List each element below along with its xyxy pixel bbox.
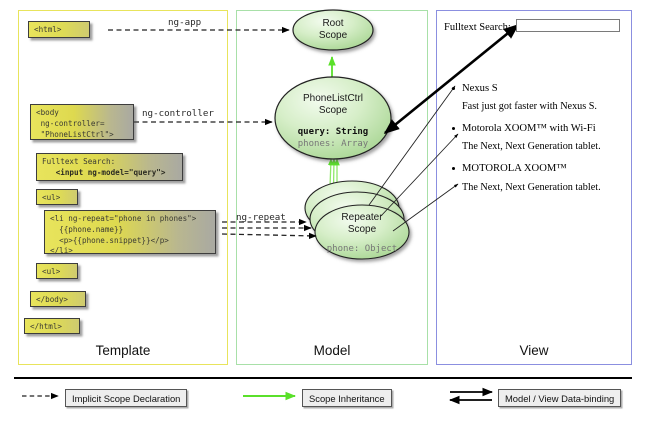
label-ng-repeat: ng-repeat [236, 212, 286, 223]
arrow-repeater-item-3 [393, 184, 458, 231]
phone-snippet: The Next, Next Generation tablet. [462, 141, 630, 152]
panel-label-template: Template [18, 343, 228, 358]
code-search-input-tag: <input ng-model="query"> [56, 168, 166, 177]
panel-label-model: Model [236, 343, 428, 358]
code-html-close[interactable]: </html> [24, 318, 80, 334]
arrow-repeater-item-2 [381, 134, 458, 216]
view-search-input[interactable] [516, 19, 620, 32]
ellipse-repeater-scope-front[interactable] [315, 205, 409, 259]
view-search-label: Fulltext Search: [444, 22, 511, 33]
bullet-icon [452, 87, 455, 90]
code-body-open[interactable]: <body ng-controller= "PhoneListCtrl"> [30, 104, 134, 140]
phone-snippet: Fast just got faster with Nexus S. [462, 101, 630, 112]
view-phone-list: Nexus S Fast just got faster with Nexus … [462, 82, 630, 200]
code-body-close[interactable]: </body> [30, 291, 86, 307]
code-search-block[interactable]: Fulltext Search: <input ng-model="query"… [36, 153, 183, 181]
ellipse-root-scope[interactable] [293, 10, 373, 50]
arrow-ng-repeat-3 [222, 234, 316, 236]
code-search-label: Fulltext Search: [42, 157, 115, 166]
label-ng-app: ng-app [168, 17, 201, 28]
ellipse-phonelistctrl-scope[interactable] [275, 77, 391, 159]
phone-name: Motorola XOOM™ with Wi-Fi [462, 122, 630, 135]
code-ul-close[interactable]: <ul> [36, 263, 78, 279]
legend-divider [14, 377, 632, 379]
phone-name: Nexus S [462, 82, 630, 95]
diagram-stage: <html> <body ng-controller= "PhoneListCt… [0, 0, 645, 425]
code-html-open[interactable]: <html> [28, 21, 90, 38]
code-li-repeat-block[interactable]: <li ng-repeat="phone in phones"> {{phone… [44, 210, 216, 254]
panel-label-view: View [436, 343, 632, 358]
list-item[interactable]: Nexus S Fast just got faster with Nexus … [462, 82, 630, 112]
phone-snippet: The Next, Next Generation tablet. [462, 182, 630, 193]
legend-item-scope-inheritance: Scope Inheritance [302, 389, 392, 407]
legend-item-implicit-scope: Implicit Scope Declaration [65, 389, 187, 407]
list-item[interactable]: Motorola XOOM™ with Wi-Fi The Next, Next… [462, 122, 630, 152]
legend-item-data-binding: Model / View Data-binding [498, 389, 621, 407]
list-item[interactable]: MOTOROLA XOOM™ The Next, Next Generation… [462, 162, 630, 192]
phone-name: MOTOROLA XOOM™ [462, 162, 630, 175]
code-ul-open[interactable]: <ul> [36, 189, 78, 205]
label-ng-controller: ng-controller [142, 108, 214, 119]
